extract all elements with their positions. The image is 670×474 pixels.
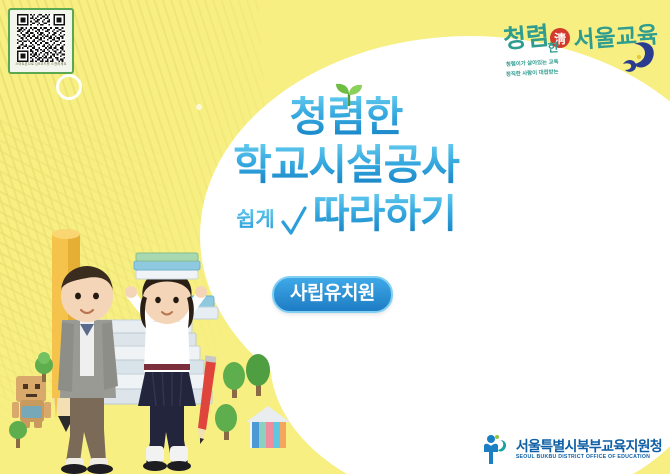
house-icon (246, 406, 290, 448)
sprout-icon (329, 80, 369, 106)
robot-icon (12, 376, 51, 428)
decor-dot (420, 432, 429, 441)
qr-code-box[interactable]: 스마트폰으로 QR코드를 스캔하세요 (8, 8, 74, 74)
brand-word-cheongnyeom: 청렴 (502, 22, 550, 54)
office-name-en: SEOUL BUKBU DISTRICT OFFICE OF EDUCATION (516, 455, 662, 460)
title-line-3: 따라하기 (313, 194, 456, 234)
decor-dot (514, 96, 524, 106)
poster-cover: 스마트폰으로 QR코드를 스캔하세요 청렴 淸 한 서울교육 청렴이가 살아있는… (0, 0, 670, 474)
tree-icon (9, 421, 27, 448)
decor-ring (56, 74, 82, 100)
boy-with-giant-pencil (58, 266, 118, 474)
decor-ring (328, 376, 350, 398)
brand-word-han: 한 (547, 39, 559, 55)
title-line-2: 학교시설공사 (196, 144, 496, 186)
office-name-ko: 서울특별시북부교육지원청 (516, 439, 662, 454)
decor-dot (612, 250, 620, 258)
students-illustration (0, 200, 330, 474)
brand-tagline-line2: 정직한 사람이 대접받는 (506, 67, 559, 78)
office-logo-mark (482, 434, 510, 466)
qr-caption: 스마트폰으로 QR코드를 스캔하세요 (14, 63, 68, 66)
brand-logo-art: 청렴 淸 한 서울교육 청렴이가 살아있는 교육 정직한 사람이 대접받는 (502, 18, 662, 90)
brand-logo: 청렴 淸 한 서울교육 청렴이가 살아있는 교육 정직한 사람이 대접받는 (502, 18, 662, 90)
office-logo-text: 서울특별시북부교육지원청 SEOUL BUKBU DISTRICT OFFICE… (516, 439, 662, 460)
tree-icon (215, 404, 237, 440)
seoul-bukbu-office-logo: 서울특별시북부교육지원청 SEOUL BUKBU DISTRICT OFFICE… (482, 434, 662, 466)
qr-code-icon (14, 14, 68, 62)
brand-tagline-line1: 청렴이가 살아있는 교육 (506, 57, 559, 68)
tree-icon (246, 354, 270, 396)
tree-icon (223, 362, 245, 398)
